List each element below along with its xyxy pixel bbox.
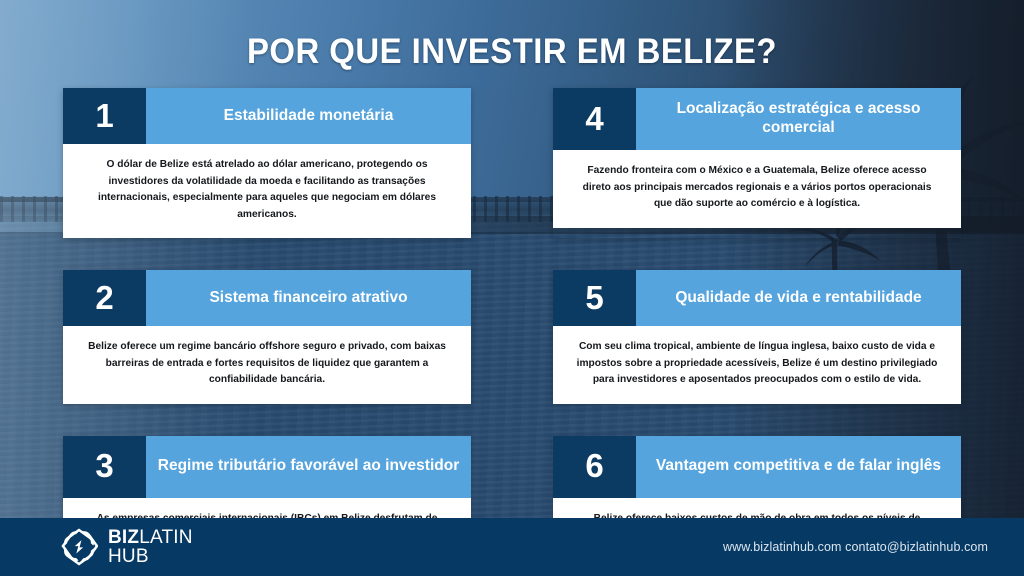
card-1-header: 1 Estabilidade monetária bbox=[63, 88, 471, 144]
card-2-number: 2 bbox=[63, 270, 146, 326]
card-4-number: 4 bbox=[553, 88, 636, 150]
card-4-body-text: Fazendo fronteira com o México e a Guate… bbox=[573, 163, 941, 213]
brand-second-line: HUB bbox=[108, 547, 193, 566]
card-5-body-text: Com seu clima tropical, ambiente de líng… bbox=[573, 339, 941, 389]
card-4-header: 4 Localização estratégica e acesso comer… bbox=[553, 88, 961, 150]
bizlatinhub-logo-icon bbox=[60, 527, 98, 567]
card-6-number: 6 bbox=[553, 436, 636, 498]
page-title: POR QUE INVESTIR EM BELIZE? bbox=[31, 32, 994, 72]
card-1: 1 Estabilidade monetária O dólar de Beli… bbox=[63, 88, 471, 238]
infographic-canvas: POR QUE INVESTIR EM BELIZE? 1 Estabilida… bbox=[0, 0, 1024, 576]
card-3-number: 3 bbox=[63, 436, 146, 498]
card-6-title: Vantagem competitiva e de falar inglês bbox=[636, 436, 961, 498]
card-5-header: 5 Qualidade de vida e rentabilidade bbox=[553, 270, 961, 326]
card-2-header: 2 Sistema financeiro atrativo bbox=[63, 270, 471, 326]
card-2-body: Belize oferece um regime bancário offsho… bbox=[63, 326, 471, 404]
card-1-body-text: O dólar de Belize está atrelado ao dólar… bbox=[83, 157, 451, 223]
card-5-body: Com seu clima tropical, ambiente de líng… bbox=[553, 326, 961, 404]
brand-logo[interactable]: BIZLATIN HUB bbox=[60, 527, 193, 567]
card-4-body: Fazendo fronteira com o México e a Guate… bbox=[553, 150, 961, 228]
card-1-title: Estabilidade monetária bbox=[146, 88, 471, 144]
card-5: 5 Qualidade de vida e rentabilidade Com … bbox=[553, 270, 961, 404]
card-grid: 1 Estabilidade monetária O dólar de Beli… bbox=[63, 88, 961, 576]
card-4-title: Localização estratégica e acesso comerci… bbox=[636, 88, 961, 150]
card-2-body-text: Belize oferece um regime bancário offsho… bbox=[83, 339, 451, 389]
card-5-title: Qualidade de vida e rentabilidade bbox=[636, 270, 961, 326]
card-3-title: Regime tributário favorável ao investido… bbox=[146, 436, 471, 498]
card-6-header: 6 Vantagem competitiva e de falar inglês bbox=[553, 436, 961, 498]
card-5-number: 5 bbox=[553, 270, 636, 326]
card-3-header: 3 Regime tributário favorável ao investi… bbox=[63, 436, 471, 498]
footer-bar: BIZLATIN HUB www.bizlatinhub.com contato… bbox=[0, 518, 1024, 576]
brand-bold-text: BIZ bbox=[108, 527, 139, 548]
card-2: 2 Sistema financeiro atrativo Belize ofe… bbox=[63, 270, 471, 404]
brand-wordmark: BIZLATIN HUB bbox=[108, 528, 193, 567]
card-1-body: O dólar de Belize está atrelado ao dólar… bbox=[63, 144, 471, 238]
card-4: 4 Localização estratégica e acesso comer… bbox=[553, 88, 961, 238]
card-2-title: Sistema financeiro atrativo bbox=[146, 270, 471, 326]
card-1-number: 1 bbox=[63, 88, 146, 144]
footer-contact-text[interactable]: www.bizlatinhub.com contato@bizlatinhub.… bbox=[723, 540, 1000, 554]
brand-light-text: LATIN bbox=[139, 527, 192, 548]
